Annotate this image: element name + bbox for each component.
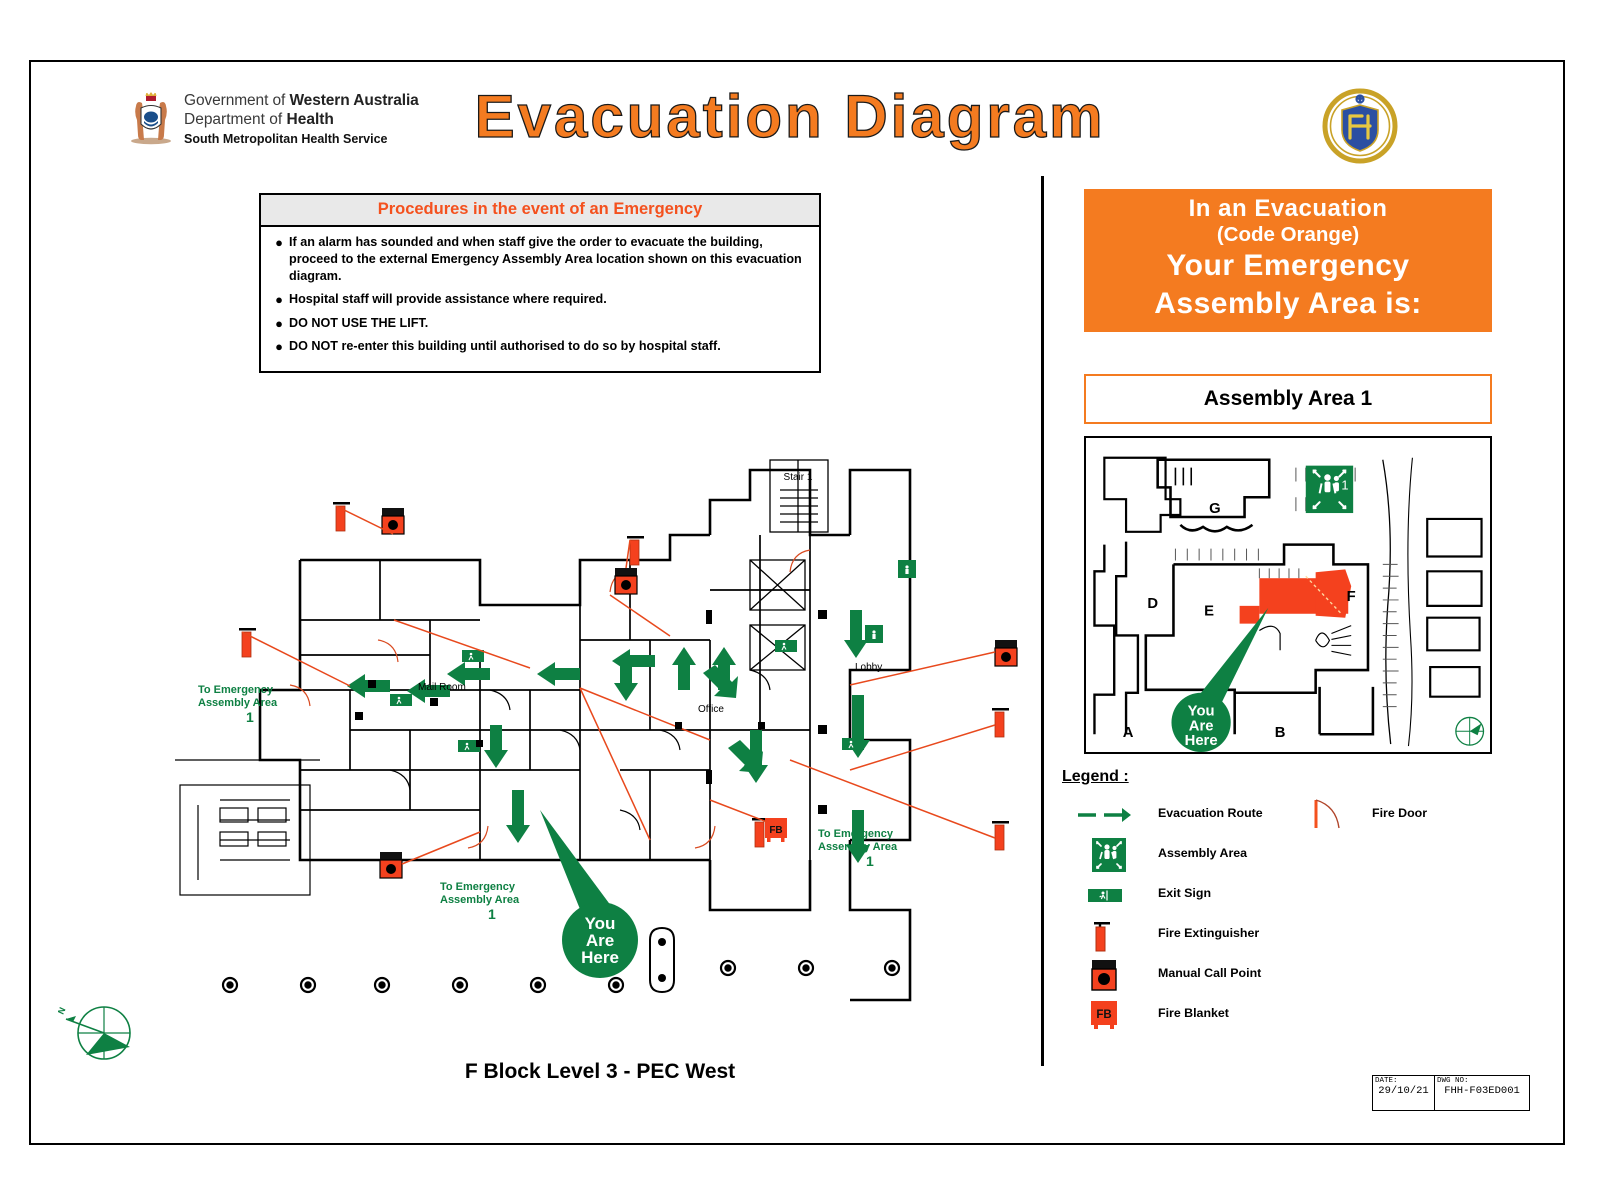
room-label-office: Office [698,704,724,715]
site-label-E: E [1204,604,1214,620]
legend-label: Assembly Area [1158,846,1247,860]
date-key: DATE: [1375,1077,1432,1085]
room-label-mail-room: Mail Room [418,682,466,693]
exit-sign-icon [775,640,797,652]
procedure-item: ● If an alarm has sounded and when staff… [269,234,813,285]
title-block: DATE: 29/10/21 DWG NO: FHH-F03ED001 [1372,1075,1530,1111]
legend-row: Manual Call Point [1062,956,1492,996]
site-label-G: G [1209,501,1221,517]
site-label-D: D [1147,596,1158,612]
room-label-stair: Stair 1 [784,472,813,483]
floor-plan-svg: Stair 1 [150,440,1030,1040]
legend-label: Fire Extinguisher [1158,926,1259,940]
site-label-A: A [1123,725,1134,741]
legend-row: Exit Sign [1062,876,1492,916]
dwg-key: DWG NO: [1437,1077,1527,1085]
legend-row: Evacuation Route Fire Door [1062,796,1492,836]
site-you-are-here-line2: Are [1189,718,1214,734]
legend-title: Legend : [1062,768,1492,786]
bullet-icon: ● [269,234,289,285]
legend-row: FB Fire Blanket [1062,996,1492,1036]
floor-plan-title: F Block Level 3 - PEC West [300,1060,900,1084]
banner-line-1: In an Evacuation [1084,196,1492,223]
procedure-item: ● DO NOT re-enter this building until au… [269,338,813,356]
procedures-list: ● If an alarm has sounded and when staff… [261,227,819,371]
assembly-area-icon [1076,836,1132,874]
route-label-line1: To Emergency [198,684,274,696]
legend-label: Fire Door [1372,806,1427,820]
exit-sign-icon [390,694,412,706]
fire-blanket-label: FB [769,825,782,836]
site-compass-icon [1456,717,1484,745]
route-label-number: 1 [866,853,874,869]
page-title: Evacuation Diagram [360,82,1220,151]
vertical-divider [1041,176,1044,1066]
date-value: 29/10/21 [1375,1085,1432,1097]
route-label-line1: To Emergency [818,828,894,840]
route-label-line2: Assembly Area [818,841,898,853]
compass-north-label: N [58,1006,68,1016]
date-cell: DATE: 29/10/21 [1373,1076,1435,1110]
route-label-line2: Assembly Area [198,697,278,709]
fire-door-icon [1306,796,1350,834]
site-you-are-here-line3: Here [1185,733,1218,749]
assembly-area-value: Assembly Area 1 [1204,387,1372,411]
room-label-lobby: Lobby [855,662,882,673]
procedure-item: ● DO NOT USE THE LIFT. [269,315,813,333]
site-label-F: F [1347,589,1356,605]
banner-line-4: Assembly Area is: [1084,286,1492,321]
legend-label: Manual Call Point [1158,966,1261,980]
banner-line-3: Your Emergency [1084,248,1492,283]
legend-label: Exit Sign [1158,886,1211,900]
floor-you-are-here-line3: Here [581,948,619,967]
legend: Legend : Evacuation Route Fire Door [1062,768,1492,1036]
evacuation-diagram-page: Government of Western Australia Departme… [0,0,1600,1200]
assembly-area-value-box: Assembly Area 1 [1084,374,1492,424]
route-label-line2: Assembly Area [440,894,520,906]
procedures-heading: Procedures in the event of an Emergency [261,195,819,227]
government-logo-block: Government of Western Australia Departme… [66,88,366,160]
legend-row: Fire Extinguisher [1062,916,1492,956]
fire-blanket-icon: FB [1076,996,1132,1034]
legend-label: Fire Blanket [1158,1006,1229,1020]
fire-extinguisher-icon [1076,916,1132,954]
exit-sign-icon [1076,876,1132,914]
route-label-number: 1 [488,906,496,922]
evacuation-banner: In an Evacuation (Code Orange) Your Emer… [1084,189,1492,332]
procedure-item: ● Hospital staff will provide assistance… [269,291,813,309]
dwg-value: FHH-F03ED001 [1437,1085,1527,1097]
route-label-number: 1 [246,709,254,725]
exit-sign-icon [462,650,484,662]
manual-call-point-icon [1076,956,1132,994]
wa-state-crest-icon [128,90,174,146]
legend-row: Assembly Area [1062,836,1492,876]
bullet-icon: ● [269,315,289,333]
assembly-marker-number: 1 [1341,477,1348,492]
site-label-B: B [1275,725,1286,741]
fire-blanket-label: FB [1096,1009,1111,1021]
emergency-procedures-box: Procedures in the event of an Emergency … [259,193,821,373]
site-map-svg: 1 You Are Here G D E F A B [1086,438,1490,752]
site-you-are-here-line1: You [1188,703,1215,719]
banner-line-2: (Code Orange) [1084,223,1492,247]
bullet-icon: ● [269,291,289,309]
fiona-stanley-hospital-crest-icon [1322,88,1398,164]
evacuation-route-arrow-icon [1076,796,1132,834]
floor-plan: Stair 1 [150,440,1030,1040]
bullet-icon: ● [269,338,289,356]
legend-label: Evacuation Route [1158,806,1263,820]
compass-rose-icon: N [58,985,144,1071]
assembly-area-icon [865,625,883,643]
exit-sign-icon [842,738,864,750]
dwg-cell: DWG NO: FHH-F03ED001 [1435,1076,1529,1110]
site-map: 1 You Are Here G D E F A B [1084,436,1492,754]
assembly-area-icon [898,560,916,578]
route-label-line1: To Emergency [440,881,516,893]
